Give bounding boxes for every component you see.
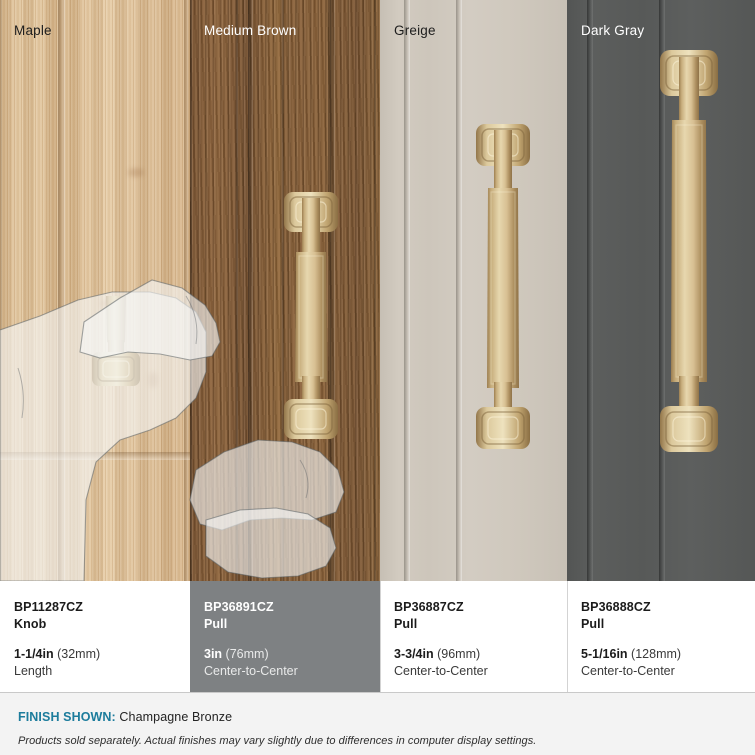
caption-type: Pull	[204, 616, 380, 633]
caption-size: 1-1/4in	[14, 647, 54, 661]
finish-shown-value: Champagne Bronze	[119, 710, 232, 724]
caption-type: Pull	[581, 616, 755, 633]
panel-label-greige: Greige	[394, 23, 436, 38]
caption-metric: (76mm)	[226, 647, 269, 661]
maple-panel-groove	[58, 0, 65, 581]
caption-metric: (96mm)	[437, 647, 480, 661]
finish-panel-strip: Maple	[0, 0, 755, 581]
panel-seam	[404, 0, 410, 581]
caption-cell-knob: BP11287CZ Knob 1-1/4in (32mm) Length	[0, 581, 190, 692]
hardware-knob-maple	[88, 296, 144, 388]
caption-dimension: 3in (76mm)	[204, 646, 380, 663]
caption-cell-pull-3in: BP36891CZ Pull 3in (76mm) Center-to-Cent…	[190, 581, 380, 692]
caption-dimension: 1-1/4in (32mm)	[14, 646, 190, 663]
hardware-pull-5-1-16in	[657, 48, 721, 456]
panel-label-maple: Maple	[14, 23, 52, 38]
caption-dimension: 5-1/16in (128mm)	[581, 646, 755, 663]
caption-metric: (128mm)	[631, 647, 681, 661]
wood-plank-seam	[248, 0, 253, 581]
maple-wood-texture	[0, 0, 190, 581]
caption-type: Pull	[394, 616, 567, 633]
panel-label-medium-brown: Medium Brown	[204, 23, 296, 38]
caption-cell-pull-3-3-4in: BP36887CZ Pull 3-3/4in (96mm) Center-to-…	[380, 581, 567, 692]
panel-dark-gray: Dark Gray	[567, 0, 755, 581]
caption-metric: (32mm)	[57, 647, 100, 661]
caption-type: Knob	[14, 616, 190, 633]
product-comparison-image: Maple	[0, 0, 755, 755]
panel-seam	[456, 0, 462, 581]
caption-measure: Center-to-Center	[394, 663, 567, 680]
panel-maple: Maple	[0, 0, 190, 581]
finish-shown-label: FINISH SHOWN:	[18, 710, 116, 724]
caption-dimension: 3-3/4in (96mm)	[394, 646, 567, 663]
hardware-pull-3in	[282, 190, 340, 442]
caption-divider	[567, 581, 568, 692]
maple-rail-shadow	[0, 452, 190, 460]
wood-knot	[128, 168, 144, 177]
footer-note: FINISH SHOWN: Champagne Bronze Products …	[0, 692, 755, 755]
panel-seam	[587, 0, 593, 581]
finish-shown-line: FINISH SHOWN: Champagne Bronze	[18, 710, 755, 724]
caption-measure: Center-to-Center	[204, 663, 380, 680]
caption-size: 3-3/4in	[394, 647, 434, 661]
hardware-pull-3-3-4in	[474, 122, 532, 452]
caption-band: BP11287CZ Knob 1-1/4in (32mm) Length BP3…	[0, 581, 755, 692]
panel-label-dark-gray: Dark Gray	[581, 23, 644, 38]
caption-sku: BP36891CZ	[204, 599, 380, 616]
maple-panel-edge	[184, 0, 188, 581]
caption-measure: Length	[14, 663, 190, 680]
caption-divider	[380, 581, 381, 692]
caption-sku: BP36887CZ	[394, 599, 567, 616]
disclaimer-text: Products sold separately. Actual finishe…	[18, 735, 755, 747]
panel-medium-brown: Medium Brown	[190, 0, 380, 581]
caption-measure: Center-to-Center	[581, 663, 755, 680]
caption-size: 5-1/16in	[581, 647, 628, 661]
caption-sku: BP11287CZ	[14, 599, 190, 616]
caption-size: 3in	[204, 647, 222, 661]
caption-sku: BP36888CZ	[581, 599, 755, 616]
wood-knot	[148, 372, 158, 388]
caption-cell-pull-5-1-16in: BP36888CZ Pull 5-1/16in (128mm) Center-t…	[567, 581, 755, 692]
panel-greige: Greige	[380, 0, 567, 581]
